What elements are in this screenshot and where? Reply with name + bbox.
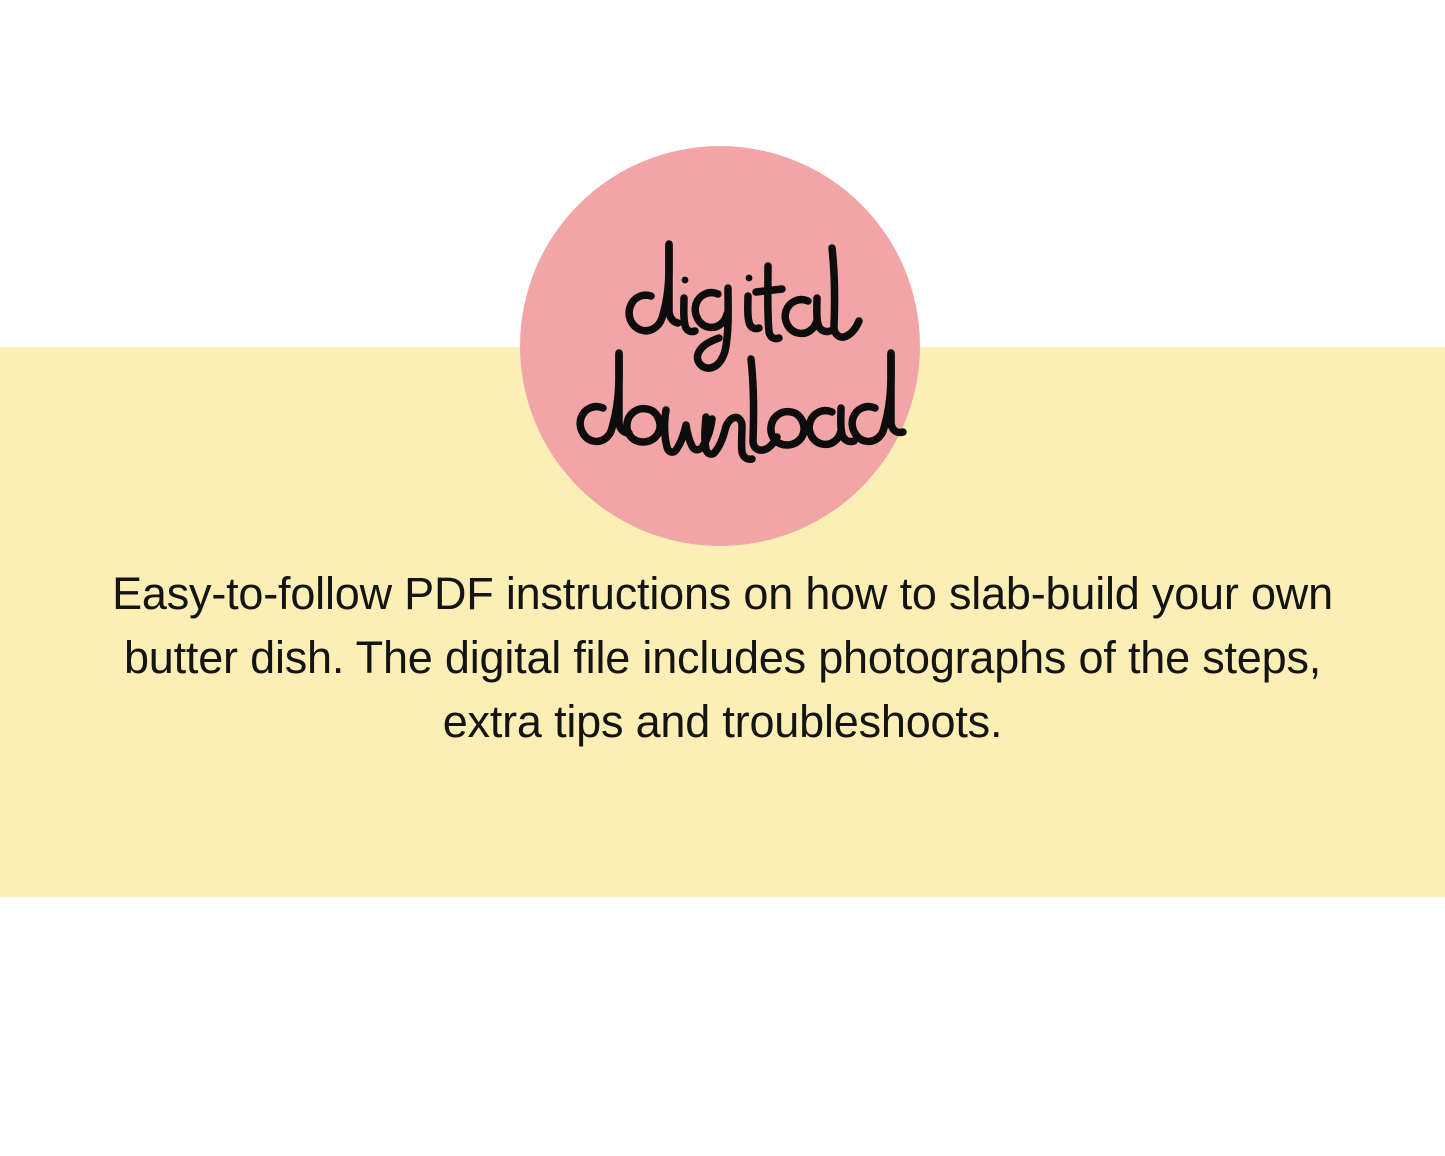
digital-download-script-text [520,146,920,546]
badge-script-line-1 [629,244,859,368]
digital-download-badge [520,146,920,546]
product-description: Easy-to-follow PDF instructions on how t… [0,562,1445,754]
badge-script-line-2 [580,353,903,459]
product-listing-card: Easy-to-follow PDF instructions on how t… [0,0,1445,1156]
